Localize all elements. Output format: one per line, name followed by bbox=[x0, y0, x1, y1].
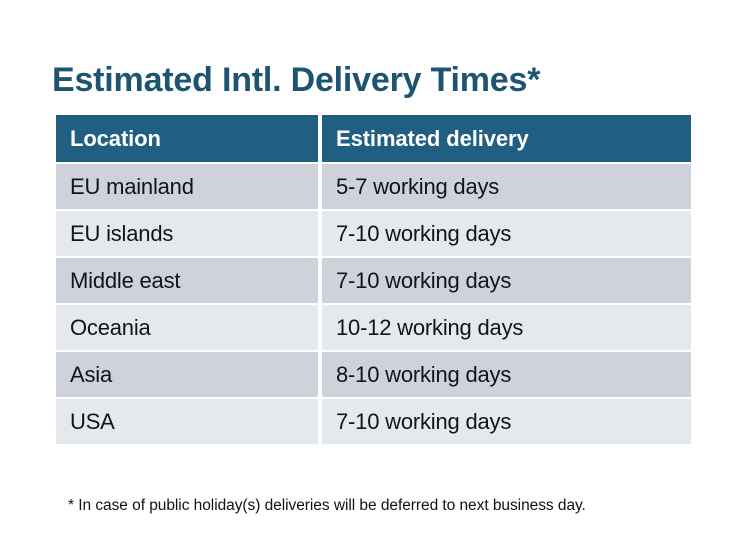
table-row: EU mainland 5-7 working days bbox=[56, 164, 691, 209]
footnote: * In case of public holiday(s) deliverie… bbox=[68, 497, 586, 515]
cell-location: Asia bbox=[56, 352, 318, 397]
cell-delivery: 8-10 working days bbox=[322, 352, 691, 397]
table-row: Oceania 10-12 working days bbox=[56, 305, 691, 350]
cell-delivery: 7-10 working days bbox=[322, 211, 691, 256]
cell-location: Oceania bbox=[56, 305, 318, 350]
cell-delivery: 7-10 working days bbox=[322, 399, 691, 444]
estimated-delivery-table: Location Estimated delivery EU mainland … bbox=[52, 113, 695, 446]
cell-delivery: 5-7 working days bbox=[322, 164, 691, 209]
table-row: Asia 8-10 working days bbox=[56, 352, 691, 397]
table-row: USA 7-10 working days bbox=[56, 399, 691, 444]
table-row: Middle east 7-10 working days bbox=[56, 258, 691, 303]
column-header-estimated-delivery: Estimated delivery bbox=[322, 115, 691, 162]
table-header-row: Location Estimated delivery bbox=[56, 115, 691, 162]
cell-location: USA bbox=[56, 399, 318, 444]
delivery-times-page: Estimated Intl. Delivery Times* Location… bbox=[0, 0, 745, 536]
cell-delivery: 7-10 working days bbox=[322, 258, 691, 303]
column-header-location: Location bbox=[56, 115, 318, 162]
page-title: Estimated Intl. Delivery Times* bbox=[52, 59, 540, 101]
table-header: Location Estimated delivery bbox=[56, 115, 691, 162]
table-body: EU mainland 5-7 working days EU islands … bbox=[56, 164, 691, 444]
cell-delivery: 10-12 working days bbox=[322, 305, 691, 350]
cell-location: Middle east bbox=[56, 258, 318, 303]
table-row: EU islands 7-10 working days bbox=[56, 211, 691, 256]
cell-location: EU islands bbox=[56, 211, 318, 256]
cell-location: EU mainland bbox=[56, 164, 318, 209]
